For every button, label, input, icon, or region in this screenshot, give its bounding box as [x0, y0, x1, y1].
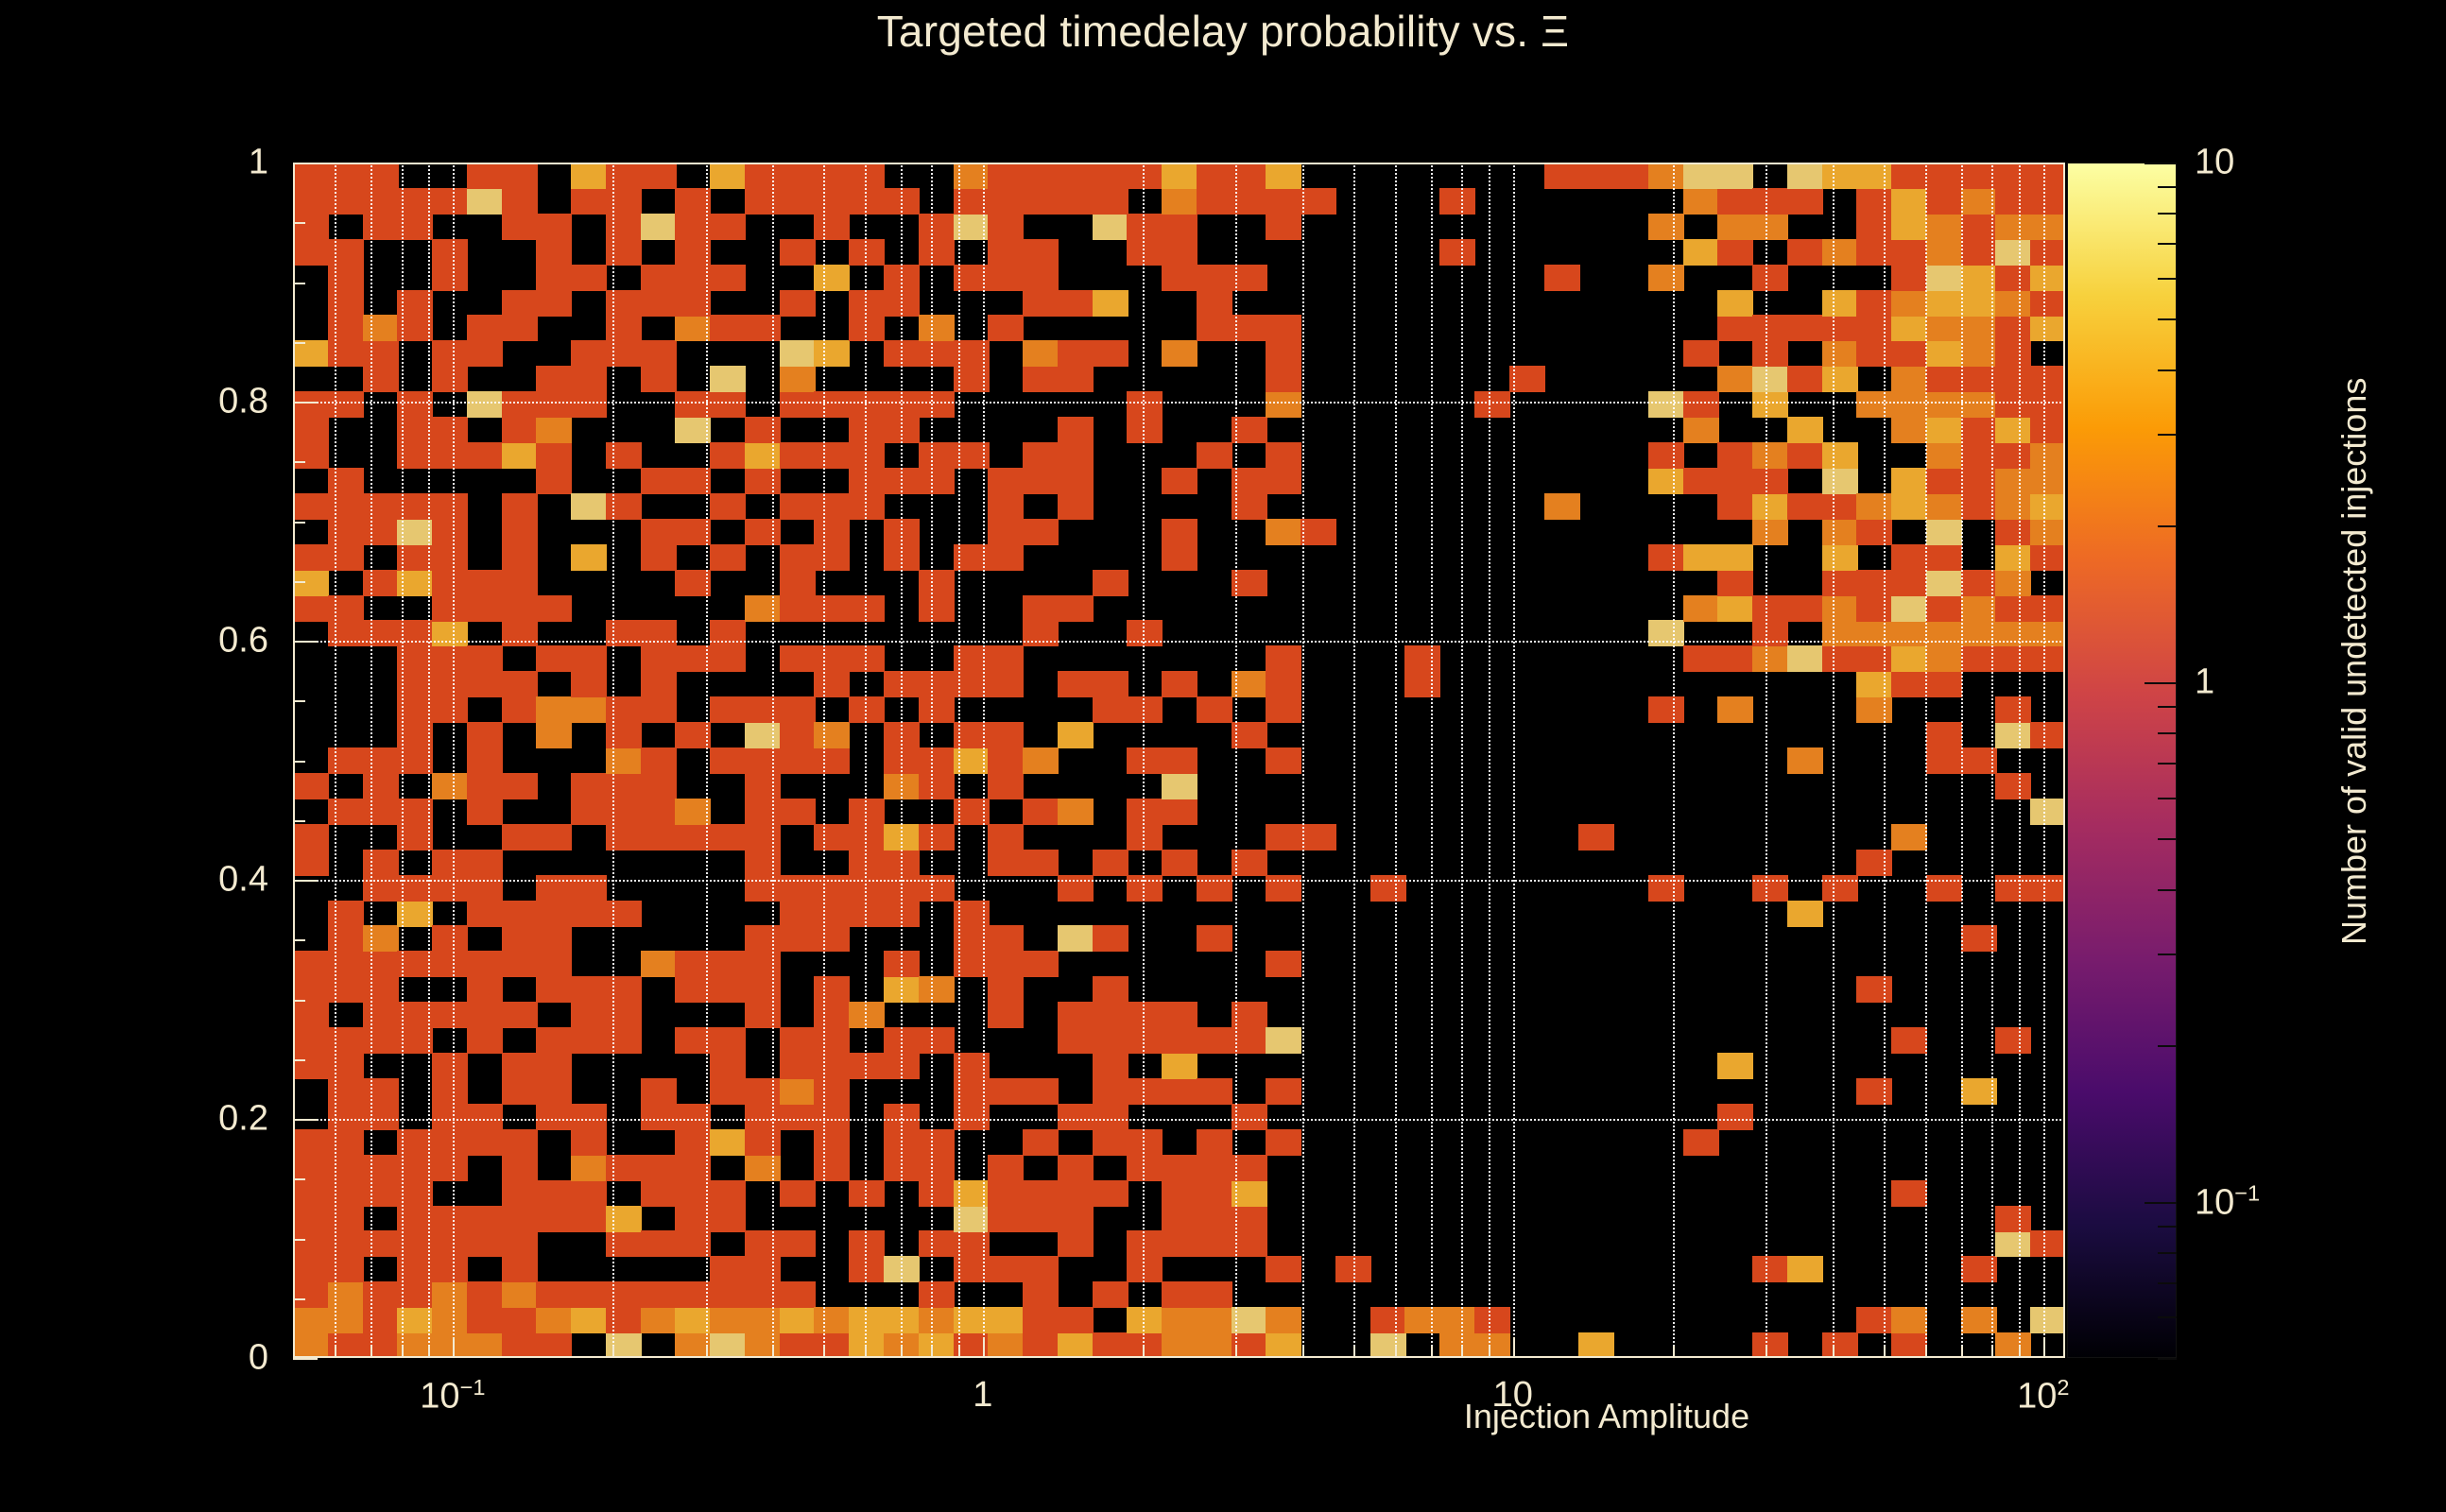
heatmap-cell: [1058, 1180, 1094, 1207]
heatmap-cell: [363, 1230, 399, 1257]
heatmap-cell: [467, 671, 503, 697]
heatmap-cell: [467, 1332, 503, 1358]
x-gridline: [1991, 163, 1993, 1358]
heatmap-cell: [1093, 163, 1128, 189]
heatmap-cell: [432, 1104, 468, 1130]
colorbar-minor-tick: [2158, 369, 2177, 371]
heatmap-cell: [293, 1027, 329, 1054]
heatmap-cell: [1717, 315, 1753, 341]
heatmap-cell: [432, 442, 468, 469]
heatmap-cell: [1648, 163, 1684, 189]
heatmap-cell: [1162, 799, 1197, 825]
heatmap-cell: [1717, 645, 1753, 672]
y-gridline: [293, 641, 2065, 643]
heatmap-cell: [2030, 366, 2065, 392]
heatmap-cell: [1093, 1129, 1128, 1156]
heatmap-cell: [571, 645, 607, 672]
heatmap-cell: [1197, 442, 1232, 469]
heatmap-cell: [1266, 214, 1301, 240]
heatmap-cell: [919, 214, 955, 240]
heatmap-cell: [641, 1180, 677, 1207]
heatmap-cell: [1891, 595, 1927, 622]
heatmap-cell: [1127, 1332, 1163, 1358]
heatmap-cell: [432, 1206, 468, 1232]
y-gridline: [293, 402, 2065, 404]
heatmap-cell: [328, 1180, 364, 1207]
heatmap-cell: [1023, 188, 1059, 215]
heatmap-cell: [1752, 1332, 1788, 1358]
heatmap-cell: [606, 239, 642, 266]
heatmap-cell: [1058, 1104, 1094, 1130]
heatmap-cell: [1266, 1332, 1301, 1358]
heatmap-cell: [2030, 442, 2065, 469]
heatmap-cell: [1891, 544, 1927, 571]
heatmap-cell: [1058, 188, 1094, 215]
heatmap-cell: [988, 1256, 1024, 1282]
heatmap-cell: [710, 391, 746, 418]
heatmap-cell: [745, 442, 781, 469]
heatmap-cell: [745, 976, 781, 1003]
heatmap-cell: [571, 773, 607, 799]
heatmap-cell: [1197, 1230, 1232, 1257]
heatmap-cell: [293, 340, 329, 367]
heatmap-cell: [1856, 315, 1892, 341]
heatmap-cell: [1822, 1332, 1858, 1358]
colorbar-minor-tick: [2158, 838, 2177, 840]
heatmap-cell: [467, 188, 503, 215]
heatmap-cell: [328, 315, 364, 341]
heatmap-cell: [641, 645, 677, 672]
heatmap-cell: [1856, 340, 1892, 367]
heatmap-cell: [502, 290, 538, 317]
heatmap-cell: [1995, 570, 2031, 596]
heatmap-cell: [1058, 1206, 1094, 1232]
heatmap-cell: [571, 340, 607, 367]
heatmap-cell: [363, 1307, 399, 1333]
heatmap-cell: [1023, 1206, 1059, 1232]
y-tick: [293, 1358, 318, 1360]
heatmap-cell: [1995, 1027, 2031, 1054]
heatmap-cell: [363, 1281, 399, 1308]
y-minor-tick: [293, 283, 305, 284]
heatmap-cell: [2030, 417, 2065, 443]
heatmap-cell: [432, 265, 468, 291]
heatmap-cell: [1023, 1307, 1059, 1333]
heatmap-cell: [1995, 214, 2031, 240]
x-minor-tick: [1961, 1346, 1963, 1358]
heatmap-cell: [1127, 1129, 1163, 1156]
figure-canvas: Targeted timedelay probability vs. Ξ 00.…: [0, 0, 2446, 1512]
heatmap-cell: [919, 340, 955, 367]
heatmap-cell: [1891, 570, 1927, 596]
heatmap-cell: [745, 1129, 781, 1156]
heatmap-cell: [1752, 340, 1788, 367]
heatmap-cell: [1683, 468, 1719, 494]
colorbar[interactable]: [2067, 163, 2177, 1358]
heatmap-cell: [432, 188, 468, 215]
heatmap-cell: [606, 315, 642, 341]
heatmap-cell: [1683, 239, 1719, 266]
x-tick-label: 102: [2017, 1375, 2069, 1417]
heatmap-cell: [919, 1332, 955, 1358]
heatmap-cell: [780, 340, 816, 367]
heatmap-cell: [1023, 1180, 1059, 1207]
heatmap-cell: [641, 163, 677, 189]
heatmap-cell: [536, 1180, 572, 1207]
heatmap-cell: [293, 1281, 329, 1308]
heatmap-cell: [467, 722, 503, 748]
heatmap-cell: [1127, 1307, 1163, 1333]
heatmap-cell: [814, 1053, 850, 1079]
heatmap-cell: [1787, 442, 1823, 469]
heatmap-cell: [1926, 366, 1962, 392]
heatmap-cell: [328, 265, 364, 291]
heatmap-cell: [780, 570, 816, 596]
heatmap-cell: [1891, 163, 1927, 189]
heatmap-cell: [502, 1281, 538, 1308]
heatmap-cell: [571, 188, 607, 215]
heatmap-cell: [1058, 799, 1094, 825]
heatmap-cell: [1162, 163, 1197, 189]
heatmap-cell: [1023, 850, 1059, 876]
heatmap-cell: [1162, 1002, 1197, 1028]
x-gridline: [612, 163, 614, 1358]
heatmap-cell: [1544, 493, 1580, 520]
heatmap-cell: [1162, 340, 1197, 367]
heatmap-cell: [780, 544, 816, 571]
heatmap-cell: [293, 1256, 329, 1282]
heatmap-cell: [1404, 671, 1440, 697]
heatmap-cell: [363, 1027, 399, 1054]
heatmap-cell: [814, 1104, 850, 1130]
heatmap-cell: [363, 976, 399, 1003]
heatmap-cell: [1093, 1104, 1128, 1130]
heatmap-cell: [1544, 163, 1580, 189]
heatmap-cell: [988, 214, 1024, 240]
heatmap-cell: [502, 901, 538, 927]
heatmap-cell: [641, 340, 677, 367]
heatmap-cell: [1891, 265, 1927, 291]
heatmap-cell: [919, 239, 955, 266]
heatmap-cell: [1787, 645, 1823, 672]
heatmap-cell: [1093, 696, 1128, 723]
heatmap-cell: [1856, 696, 1892, 723]
heatmap-cell: [571, 799, 607, 825]
heatmap-cell: [988, 519, 1024, 545]
heatmap-cell: [1162, 1027, 1197, 1054]
heatmap-cell: [536, 1206, 572, 1232]
heatmap-cell: [328, 1155, 364, 1181]
heatmap-cell: [1023, 1332, 1059, 1358]
heatmap-cell: [536, 901, 572, 927]
heatmap-cell: [1439, 1307, 1475, 1333]
heatmap-cell: [1752, 442, 1788, 469]
heatmap-cell: [502, 519, 538, 545]
heatmap-cell: [606, 1332, 642, 1358]
heatmap-cell: [1197, 290, 1232, 317]
heatmap-cell: [641, 1281, 677, 1308]
heatmap-cell: [502, 1053, 538, 1079]
x-gridline: [1833, 163, 1834, 1358]
heatmap-cell: [1683, 544, 1719, 571]
heatmap-cell: [1891, 1307, 1927, 1333]
x-gridline: [453, 163, 455, 1358]
x-tick-label: 1: [973, 1375, 992, 1416]
heatmap-cell: [1058, 493, 1094, 520]
heatmap-cell: [467, 595, 503, 622]
heatmap-cell: [1787, 239, 1823, 266]
heatmap-cell: [467, 570, 503, 596]
heatmap-cell: [467, 1230, 503, 1257]
heatmap-cell: [814, 1129, 850, 1156]
heatmap-cell: [1266, 366, 1301, 392]
heatmap-cell: [363, 747, 399, 774]
y-tick-label: 0.8: [155, 382, 268, 422]
heatmap-cell: [745, 824, 781, 850]
x-minor-tick: [772, 1346, 774, 1358]
y-tick-label: 0: [155, 1338, 268, 1379]
heatmap-cell: [328, 391, 364, 418]
heatmap-cell: [1266, 1078, 1301, 1105]
heatmap-cell: [536, 824, 572, 850]
heatmap-cell: [536, 1281, 572, 1308]
heatmap-cell: [536, 595, 572, 622]
heatmap-cell: [467, 1307, 503, 1333]
heatmap-cell: [1787, 493, 1823, 520]
heatmap-cell: [467, 1129, 503, 1156]
heatmap-cell: [1439, 239, 1475, 266]
heatmap-cell: [814, 1078, 850, 1105]
x-minor-tick: [1235, 1346, 1237, 1358]
y-gridline: [293, 163, 2065, 164]
heatmap-cell: [780, 442, 816, 469]
heatmap-cell: [432, 1078, 468, 1105]
heatmap-cell: [571, 1129, 607, 1156]
heatmap-cell: [1717, 468, 1753, 494]
x-minor-tick: [453, 1337, 455, 1358]
heatmap-cell: [363, 188, 399, 215]
heatmap-cell: [536, 468, 572, 494]
heatmap-cell: [536, 290, 572, 317]
heatmap-cell: [710, 1332, 746, 1358]
x-gridline: [1143, 163, 1145, 1358]
heatmap-cell: [1752, 493, 1788, 520]
heatmap-cell: [571, 544, 607, 571]
heatmap-cell: [919, 773, 955, 799]
heatmap-cell: [1648, 468, 1684, 494]
heatmap-cell: [1822, 366, 1858, 392]
heatmap-cell: [745, 747, 781, 774]
heatmap-cell: [988, 645, 1024, 672]
heatmap-cell: [780, 799, 816, 825]
heatmap-cell: [1162, 1332, 1197, 1358]
heatmap-cell: [606, 773, 642, 799]
heatmap-cell: [606, 1002, 642, 1028]
heatmap-cell: [432, 519, 468, 545]
heatmap-cell: [1822, 163, 1858, 189]
heatmap-cell: [1717, 595, 1753, 622]
heatmap-cell: [745, 1281, 781, 1308]
heatmap-cell: [1127, 1027, 1163, 1054]
heatmap-cell: [1404, 1307, 1440, 1333]
heatmap-cell: [745, 1230, 781, 1257]
x-gridline: [1766, 163, 1767, 1358]
x-minor-tick: [1833, 1346, 1834, 1358]
y-minor-tick: [293, 1059, 305, 1061]
heatmap-cell: [919, 696, 955, 723]
heatmap-cell: [988, 163, 1024, 189]
heatmap-cell: [1717, 239, 1753, 266]
heatmap-cell: [919, 468, 955, 494]
heatmap-cell: [1162, 239, 1197, 266]
heatmap-cell: [710, 1129, 746, 1156]
heatmap-cell: [1891, 1332, 1927, 1358]
heatmap-cell: [919, 1027, 955, 1054]
heatmap-cell: [502, 214, 538, 240]
heatmap-cell: [1093, 188, 1128, 215]
heatmap-cell: [328, 188, 364, 215]
heatmap-cell: [328, 951, 364, 977]
heatmap-cell: [1891, 468, 1927, 494]
heatmap-cell: [780, 595, 816, 622]
heatmap-cell: [1891, 315, 1927, 341]
heatmap-cell: [814, 519, 850, 545]
heatmap-cell: [2030, 1307, 2065, 1333]
heatmap-cell: [1995, 773, 2031, 799]
heatmap-cell: [328, 901, 364, 927]
heatmap-cell: [502, 595, 538, 622]
heatmap-cell: [1197, 696, 1232, 723]
heatmap-cell: [641, 1155, 677, 1181]
heatmap-cell: [1856, 391, 1892, 418]
x-gridline: [1961, 163, 1963, 1358]
heatmap-cell: [1856, 570, 1892, 596]
x-minor-tick: [931, 1346, 933, 1358]
heatmap-cell: [1301, 519, 1336, 545]
heatmap-cell: [1752, 645, 1788, 672]
heatmap-cell: [1023, 951, 1059, 977]
heatmap-cell: [1648, 696, 1684, 723]
heatmap-cell: [1162, 544, 1197, 571]
x-gridline: [983, 163, 985, 1358]
heatmap-cell: [1162, 468, 1197, 494]
heatmap-cell: [1058, 442, 1094, 469]
heatmap-cell: [502, 1078, 538, 1105]
colorbar-minor-tick: [2158, 954, 2177, 955]
heatmap-cell: [467, 1027, 503, 1054]
heatmap-cell: [745, 925, 781, 952]
heatmap-cell: [814, 340, 850, 367]
heatmap-cell: [745, 1256, 781, 1282]
colorbar-minor-tick: [2158, 525, 2177, 527]
heatmap-cell: [1162, 519, 1197, 545]
heatmap-cell: [710, 1053, 746, 1079]
heatmap-cell: [1926, 595, 1962, 622]
x-minor-tick: [335, 1346, 336, 1358]
heatmap-cell: [1683, 188, 1719, 215]
heatmap-cell: [641, 747, 677, 774]
heatmap-cell: [710, 366, 746, 392]
heatmap-cell: [1023, 519, 1059, 545]
heatmap-cell: [710, 214, 746, 240]
heatmap-cell: [328, 799, 364, 825]
heatmap-cell: [641, 366, 677, 392]
heatmap-cell: [1891, 366, 1927, 392]
heatmap-cell: [919, 1281, 955, 1308]
x-minor-tick: [901, 1346, 903, 1358]
heatmap-cell: [1093, 1078, 1128, 1105]
heatmap-cell: [536, 645, 572, 672]
heatmap-cell: [1856, 1307, 1892, 1333]
heatmap-cell: [1162, 265, 1197, 291]
heatmap-cell: [1891, 290, 1927, 317]
heatmap-cell: [1023, 265, 1059, 291]
heatmap-cell: [606, 976, 642, 1003]
heatmap-cell: [988, 773, 1024, 799]
heatmap-cell: [328, 290, 364, 317]
heatmap-cell: [606, 188, 642, 215]
heatmap-cell: [1093, 850, 1128, 876]
heatmap-cell: [988, 265, 1024, 291]
heatmap-cell: [1197, 1307, 1232, 1333]
x-gridline: [370, 163, 372, 1358]
heatmap-cell: [2030, 468, 2065, 494]
heatmap-cell: [814, 901, 850, 927]
heatmap-cell: [1926, 290, 1962, 317]
heatmap-cell: [293, 1155, 329, 1181]
heatmap-cell: [363, 951, 399, 977]
heatmap-cell: [606, 442, 642, 469]
y-gridline: [293, 880, 2065, 882]
heatmap-cell: [1891, 239, 1927, 266]
y-tick-label: 0.4: [155, 860, 268, 901]
heatmap-cell: [502, 671, 538, 697]
colorbar-tick-label: 10: [2195, 143, 2234, 183]
heatmap-cell: [1093, 1027, 1128, 1054]
heatmap-cell: [432, 493, 468, 520]
heatmap-cell: [641, 773, 677, 799]
heatmap-cell: [1093, 925, 1128, 952]
heatmap-cell: [710, 1307, 746, 1333]
heatmap-cell: [641, 696, 677, 723]
heatmap-plot-area[interactable]: [293, 163, 2065, 1358]
heatmap-cell: [502, 1230, 538, 1257]
heatmap-cell: [328, 1104, 364, 1130]
heatmap-cell: [2030, 239, 2065, 266]
heatmap-cell: [606, 1206, 642, 1232]
x-minor-tick: [1513, 1337, 1515, 1358]
x-minor-tick: [2043, 1337, 2045, 1358]
heatmap-cell: [780, 747, 816, 774]
heatmap-cell: [641, 544, 677, 571]
heatmap-cell: [502, 163, 538, 189]
heatmap-cell: [919, 747, 955, 774]
heatmap-cell: [1266, 163, 1301, 189]
heatmap-cell: [1162, 1155, 1197, 1181]
heatmap-cell: [1995, 519, 2031, 545]
colorbar-title: Number of valid undetected injections: [2334, 378, 2374, 945]
x-gridline: [1673, 163, 1675, 1358]
x-minor-tick: [1143, 1346, 1145, 1358]
heatmap-cell: [710, 1256, 746, 1282]
colorbar-minor-tick: [2158, 278, 2177, 280]
heatmap-cell: [919, 1155, 955, 1181]
heatmap-cell: [1856, 519, 1892, 545]
heatmap-cell: [432, 239, 468, 266]
heatmap-cell: [293, 824, 329, 850]
heatmap-cell: [467, 163, 503, 189]
heatmap-cell: [2030, 645, 2065, 672]
